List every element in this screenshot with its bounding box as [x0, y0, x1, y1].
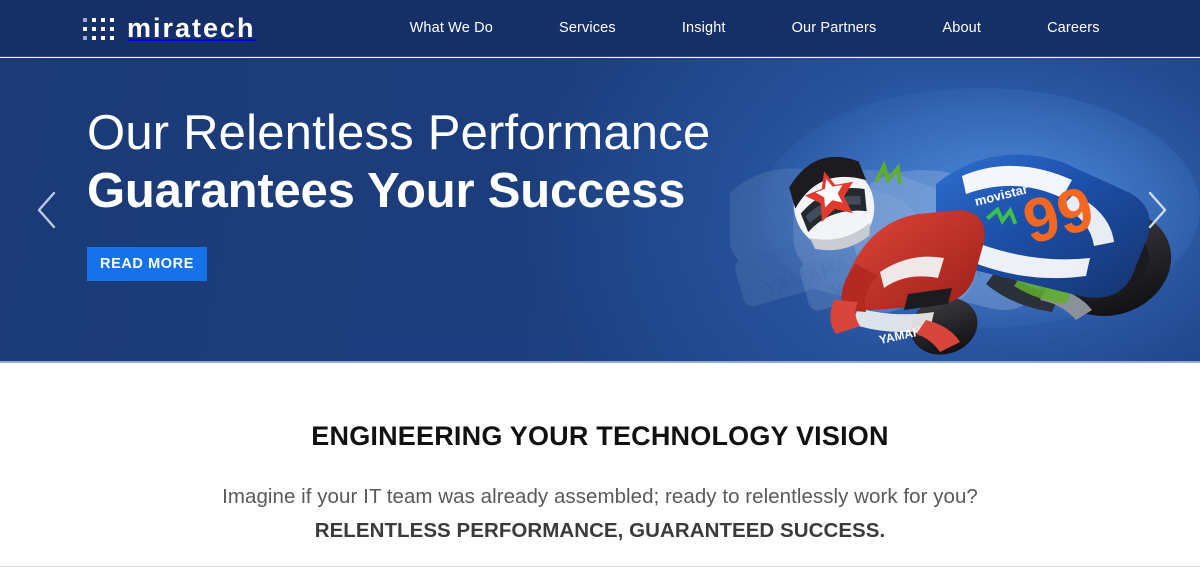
nav-item-what-we-do[interactable]: What We Do: [377, 20, 526, 36]
section-subtitle-bold: RELENTLESS PERFORMANCE, GUARANTEED SUCCE…: [0, 519, 1200, 543]
nav-item-about[interactable]: About: [909, 20, 1014, 36]
hero-carousel: YAMAHA YAMAHA YAMA: [0, 58, 1200, 363]
read-more-button[interactable]: READ MORE: [87, 247, 207, 281]
motogp-racer-photo: YAMAHA YAMAHA YAMA: [730, 58, 1200, 363]
hero-copy: Our Relentless Performance Guarantees Yo…: [87, 107, 710, 281]
svg-text:YAMAHA: YAMAHA: [889, 258, 984, 309]
hero-headline-light: Our Relentless Performance: [87, 107, 710, 160]
site-header: miratech What We Do Services Insight Our…: [0, 0, 1200, 57]
nav-item-our-partners[interactable]: Our Partners: [759, 20, 910, 36]
nav-item-insight[interactable]: Insight: [649, 20, 759, 36]
page-root: miratech What We Do Services Insight Our…: [0, 0, 1200, 567]
nav-item-careers[interactable]: Careers: [1014, 20, 1133, 36]
svg-text:YAMAHA: YAMAHA: [762, 252, 853, 301]
main-navigation: What We Do Services Insight Our Partners…: [377, 20, 1133, 36]
svg-text:YAMAHA: YAMAHA: [878, 322, 932, 346]
chevron-right-icon: [1144, 190, 1170, 230]
chevron-left-icon: [34, 190, 60, 230]
logo-link[interactable]: miratech: [83, 15, 256, 42]
svg-text:YAMAHA: YAMAHA: [919, 209, 977, 237]
nav-item-services[interactable]: Services: [526, 20, 649, 36]
section-subtitle-regular: Imagine if your IT team was already asse…: [0, 485, 1200, 509]
intro-section: ENGINEERING YOUR TECHNOLOGY VISION Imagi…: [0, 365, 1200, 567]
carousel-next-button[interactable]: [1134, 187, 1180, 233]
hero-headline-bold: Guarantees Your Success: [87, 164, 710, 219]
logo-wordmark: miratech: [127, 15, 256, 42]
logo-dot-grid-icon: [83, 18, 114, 40]
section-title: ENGINEERING YOUR TECHNOLOGY VISION: [0, 421, 1200, 452]
carousel-prev-button[interactable]: [24, 187, 70, 233]
svg-text:YAMAHA: YAMAHA: [828, 256, 921, 306]
svg-text:99: 99: [1017, 174, 1101, 258]
svg-text:movistar: movistar: [973, 181, 1029, 209]
